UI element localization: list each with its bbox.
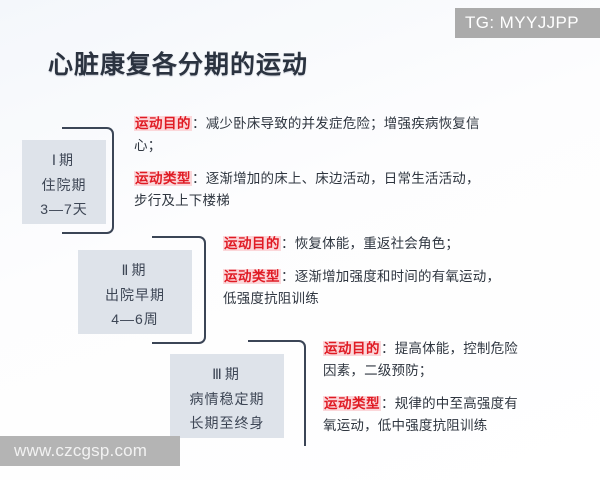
- phase-1-roman: Ⅰ期: [22, 148, 106, 173]
- phase-2-stage: 出院早期: [78, 283, 192, 308]
- phase-3-roman: Ⅲ期: [170, 362, 284, 387]
- purpose-label: 运动目的: [323, 341, 381, 356]
- phase-1-purpose-text-1: 减少卧床导致的并发症危险；增强疾病恢复信: [206, 116, 480, 131]
- phase-1-type-line-2: 步行及上下楼梯: [134, 190, 584, 212]
- phase-2-type-line-1: 运动类型：逐渐增加强度和时间的有氧运动，: [223, 266, 583, 288]
- phase-1-purpose-line-1: 运动目的：减少卧床导致的并发症危险；增强疾病恢复信: [134, 113, 584, 135]
- phase-2-purpose-line-1: 运动目的：恢复体能，重返社会角色；: [223, 233, 583, 255]
- purpose-label: 运动目的: [134, 116, 192, 131]
- block-spacer: [323, 382, 591, 393]
- phase-box-1: Ⅰ期 住院期 3—7天: [22, 140, 106, 224]
- phase-2-roman: Ⅱ期: [78, 258, 192, 283]
- phase-1-type-line-1: 运动类型：逐渐增加的床上、床边活动，日常生活活动，: [134, 168, 584, 190]
- phase-1-description: 运动目的：减少卧床导致的并发症危险；增强疾病恢复信 心； 运动类型：逐渐增加的床…: [134, 113, 584, 211]
- phase-3-purpose-line-1: 运动目的：提高体能，控制危险: [323, 338, 591, 360]
- phase-3-purpose-line-2: 因素，二级预防；: [323, 360, 591, 382]
- colon-separator: ：: [281, 269, 295, 284]
- colon-separator: ：: [192, 171, 206, 186]
- phase-1-stage: 住院期: [22, 173, 106, 198]
- phase-3-type-text-1: 规律的中至高强度有: [395, 396, 518, 411]
- phase-3-duration: 长期至终身: [170, 411, 284, 436]
- website-watermark: www.czcgsp.com: [0, 436, 180, 466]
- infographic-canvas: TG: MYYJJPP 心脏康复各分期的运动 Ⅰ期 住院期 3—7天 Ⅱ期 出院…: [0, 0, 600, 480]
- phase-3-description: 运动目的：提高体能，控制危险 因素，二级预防； 运动类型：规律的中至高强度有 氧…: [323, 338, 591, 436]
- colon-separator: ：: [381, 341, 395, 356]
- phase-1-purpose-line-2: 心；: [134, 135, 584, 157]
- phase-2-description: 运动目的：恢复体能，重返社会角色； 运动类型：逐渐增加强度和时间的有氧运动， 低…: [223, 233, 583, 310]
- phase-1-type-text-1: 逐渐增加的床上、床边活动，日常生活活动，: [206, 171, 480, 186]
- type-label: 运动类型: [323, 396, 381, 411]
- colon-separator: ：: [281, 236, 295, 251]
- type-label: 运动类型: [223, 269, 281, 284]
- colon-separator: ：: [192, 116, 206, 131]
- phase-2-duration: 4—6周: [78, 307, 192, 332]
- phase-box-2: Ⅱ期 出院早期 4—6周: [78, 250, 192, 334]
- phase-3-stage: 病情稳定期: [170, 387, 284, 412]
- colon-separator: ：: [381, 396, 395, 411]
- phase-2-purpose-text-1: 恢复体能，重返社会角色；: [295, 236, 459, 251]
- phase-3-type-line-2: 氧运动，低中强度抗阻训练: [323, 415, 591, 437]
- type-label: 运动类型: [134, 171, 192, 186]
- page-title: 心脏康复各分期的运动: [48, 45, 308, 81]
- phase-2-type-line-2: 低强度抗阻训练: [223, 288, 583, 310]
- block-spacer: [223, 255, 583, 266]
- phase-3-type-line-1: 运动类型：规律的中至高强度有: [323, 393, 591, 415]
- phase-2-type-text-1: 逐渐增加强度和时间的有氧运动，: [295, 269, 501, 284]
- telegram-watermark: TG: MYYJJPP: [455, 8, 600, 38]
- purpose-label: 运动目的: [223, 236, 281, 251]
- phase-3-purpose-text-1: 提高体能，控制危险: [395, 341, 518, 356]
- block-spacer: [134, 157, 584, 168]
- phase-1-duration: 3—7天: [22, 197, 106, 222]
- phase-box-3: Ⅲ期 病情稳定期 长期至终身: [170, 354, 284, 438]
